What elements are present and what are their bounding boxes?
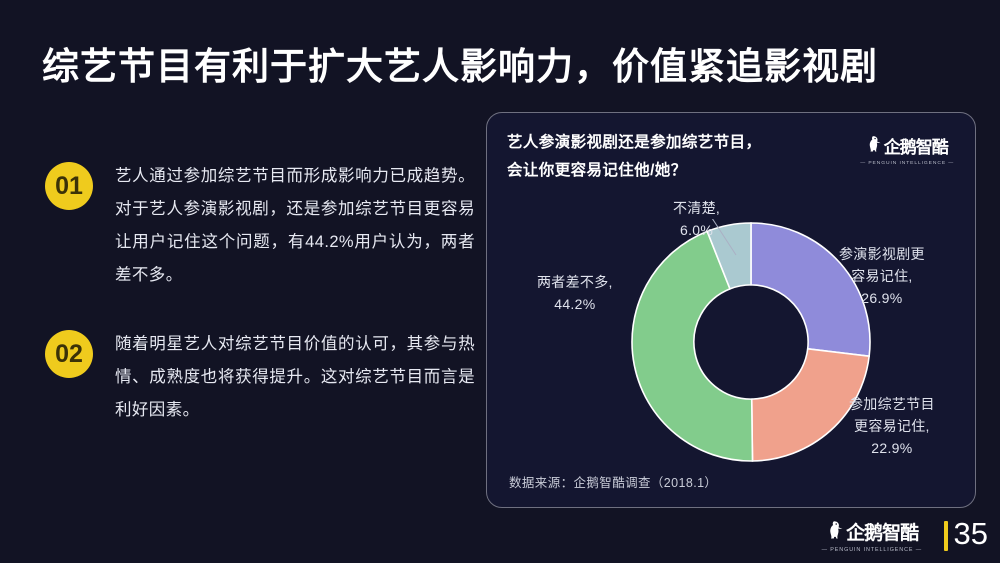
page-number: 35 [954,516,988,552]
bullet-badge-01: 01 [45,162,93,210]
slice-label-same-line-1: 两者差不多, [537,271,613,293]
bullet-text-01: 艺人通过参加综艺节目而形成影响力已成趋势。对于艺人参演影视剧，还是参加综艺节目更… [115,160,475,292]
page-number-divider [944,521,948,551]
penguin-icon [826,520,844,544]
slice-label-drama-line-2: 容易记住, [839,265,925,287]
brand-logo-footer: 企鹅智酷 — PENGUIN INTELLIGENCE — [816,518,928,553]
slice-label-drama-line-1: 参演影视剧更 [839,243,925,265]
slice-label-variety: 参加综艺节目 更容易记住, 22.9% [849,393,935,459]
slice-label-unclear: 不清楚, 6.0% [673,197,720,241]
slice-label-drama-value: 26.9% [839,287,925,309]
slide-canvas: 综艺节目有利于扩大艺人影响力，价值紧追影视剧 01 艺人通过参加综艺节目而形成影… [0,0,1000,563]
slice-label-variety-value: 22.9% [849,437,935,459]
list-item: 01 艺人通过参加综艺节目而形成影响力已成趋势。对于艺人参演影视剧，还是参加综艺… [45,160,475,292]
slice-label-unclear-value: 6.0% [673,219,720,241]
bullet-badge-02: 02 [45,330,93,378]
slice-label-same: 两者差不多, 44.2% [537,271,613,315]
chart-question-line-2: 会让你更容易记住他/她？ [507,157,837,185]
bullet-text-02: 随着明星艺人对综艺节目价值的认可，其参与热情、成熟度也将获得提升。这对综艺节目而… [115,328,475,427]
slice-label-same-value: 44.2% [537,293,613,315]
brand-wordmark: 企鹅智酷 [846,518,918,545]
list-item: 02 随着明星艺人对综艺节目价值的认可，其参与热情、成熟度也将获得提升。这对综艺… [45,328,475,427]
brand-tagline: — PENGUIN INTELLIGENCE — [822,547,923,552]
brand-logo-panel: 企鹅智酷 — PENGUIN INTELLIGENCE — [855,133,959,166]
brand-wordmark: 企鹅智酷 [884,133,948,158]
donut-chart [628,219,874,465]
bullet-list: 01 艺人通过参加综艺节目而形成影响力已成趋势。对于艺人参演影视剧，还是参加综艺… [45,160,475,463]
brand-tagline: — PENGUIN INTELLIGENCE — [860,160,954,165]
donut-svg [628,219,874,465]
slice-label-variety-line-1: 参加综艺节目 [849,393,935,415]
penguin-icon [866,135,882,157]
slice-label-drama: 参演影视剧更 容易记住, 26.9% [839,243,925,309]
chart-panel: 艺人参演影视剧还是参加综艺节目， 会让你更容易记住他/她？ 企鹅智酷 — PEN… [486,112,976,508]
chart-question: 艺人参演影视剧还是参加综艺节目， 会让你更容易记住他/她？ [507,129,837,185]
chart-source: 数据来源：企鹅智酷调查（2018.1） [509,472,717,491]
slice-label-unclear-line-1: 不清楚, [673,197,720,219]
slice-label-variety-line-2: 更容易记住, [849,415,935,437]
page-title: 综艺节目有利于扩大艺人影响力，价值紧追影视剧 [42,36,878,90]
chart-question-line-1: 艺人参演影视剧还是参加综艺节目， [507,129,837,157]
